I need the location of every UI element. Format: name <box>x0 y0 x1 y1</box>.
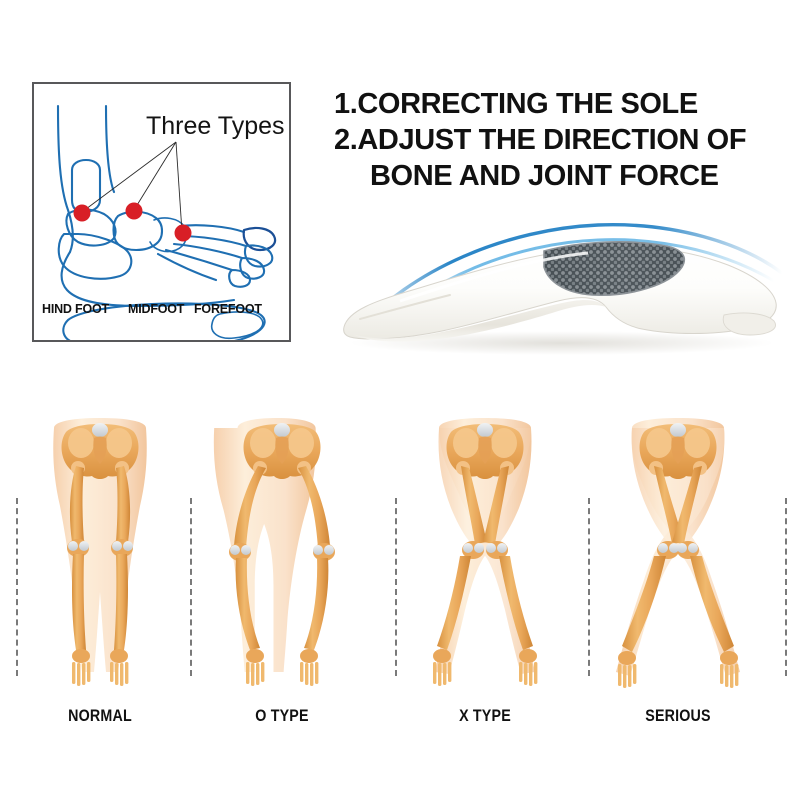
leg-figure-x-type <box>395 410 575 700</box>
foot-bones-x-type <box>433 662 537 686</box>
zone-label-hind-foot: HIND FOOT <box>42 302 109 316</box>
marker-hindfoot <box>74 205 91 222</box>
sacrum-x-type <box>477 423 493 437</box>
insole-product-image <box>330 215 792 365</box>
tibia-right-o-type <box>304 558 328 650</box>
foot-bones-serious <box>618 664 738 688</box>
three-types-title: Three Types <box>146 112 285 141</box>
leg-caption-normal: NORMAL <box>50 706 151 726</box>
leg-caption-o-type: O TYPE <box>232 706 333 726</box>
sacrum-serious <box>670 423 686 437</box>
heading-line-2: 2.ADJUST THE DIRECTION OF <box>334 122 790 158</box>
leg-figure-normal <box>10 410 190 700</box>
tibia-right-serious <box>690 556 734 652</box>
leg-caption-x-type: X TYPE <box>435 706 536 726</box>
leg-figure-o-type <box>192 410 372 700</box>
leg-figure-serious <box>588 410 768 700</box>
zone-label-forefoot: FOREFOOT <box>194 302 262 316</box>
leg-alignment-comparison: NORMAL O TYPE X TYPE SERIOUS <box>0 410 800 740</box>
marker-midfoot <box>126 203 143 220</box>
leg-caption-serious: SERIOUS <box>628 706 729 726</box>
foot-bones-normal <box>72 662 128 686</box>
foot-diagram-panel: .fl { fill:none; stroke:#1f6fb2; stroke-… <box>32 82 291 342</box>
sacrum-o-type <box>274 423 290 437</box>
heading-line-1: 1.CORRECTING THE SOLE <box>334 86 790 122</box>
zone-label-midfoot: MIDFOOT <box>128 302 184 316</box>
reference-line-5 <box>785 498 787 676</box>
headings-block: 1.CORRECTING THE SOLE 2.ADJUST THE DIREC… <box>334 86 790 194</box>
tibia-left-serious <box>622 556 666 652</box>
heading-line-3: BONE AND JOINT FORCE <box>334 158 790 194</box>
sacrum-normal <box>92 423 108 437</box>
infographic-page: .fl { fill:none; stroke:#1f6fb2; stroke-… <box>0 0 800 800</box>
marker-forefoot <box>175 225 192 242</box>
